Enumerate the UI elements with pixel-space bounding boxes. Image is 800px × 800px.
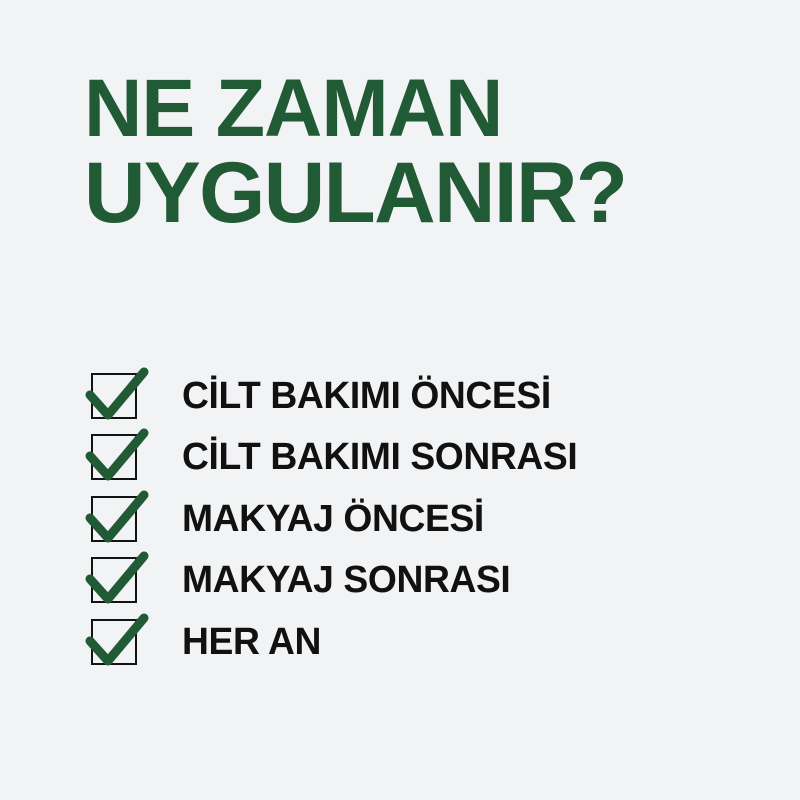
checkbox-checked[interactable] xyxy=(88,552,146,608)
checkbox-checked[interactable] xyxy=(88,614,146,670)
list-item[interactable]: HER AN xyxy=(88,611,728,673)
list-item-label: CİLT BAKIMI ÖNCESİ xyxy=(182,377,551,415)
checkmark-icon xyxy=(88,368,146,424)
checkmark-icon xyxy=(88,552,146,608)
poster-canvas: NE ZAMAN UYGULANIR? CİLT BAKIMI ÖNCESİ C… xyxy=(0,0,800,800)
list-item-label: MAKYAJ ÖNCESİ xyxy=(182,500,484,538)
checkbox-checked[interactable] xyxy=(88,491,146,547)
checkbox-checked[interactable] xyxy=(88,429,146,485)
list-item[interactable]: MAKYAJ SONRASI xyxy=(88,550,728,612)
headline-line-2: UYGULANIR? xyxy=(84,153,737,234)
checkmark-icon xyxy=(88,614,146,670)
list-item[interactable]: CİLT BAKIMI ÖNCESİ xyxy=(88,365,728,427)
page-title: NE ZAMAN UYGULANIR? xyxy=(84,70,744,234)
checklist: CİLT BAKIMI ÖNCESİ CİLT BAKIMI SONRASI M… xyxy=(88,365,728,673)
headline-line-1: NE ZAMAN xyxy=(84,70,734,147)
checkmark-icon xyxy=(88,429,146,485)
list-item[interactable]: MAKYAJ ÖNCESİ xyxy=(88,488,728,550)
checkbox-checked[interactable] xyxy=(88,368,146,424)
checkmark-icon xyxy=(88,491,146,547)
list-item-label: MAKYAJ SONRASI xyxy=(182,561,510,599)
list-item[interactable]: CİLT BAKIMI SONRASI xyxy=(88,427,728,489)
list-item-label: HER AN xyxy=(182,623,321,661)
list-item-label: CİLT BAKIMI SONRASI xyxy=(182,438,577,476)
